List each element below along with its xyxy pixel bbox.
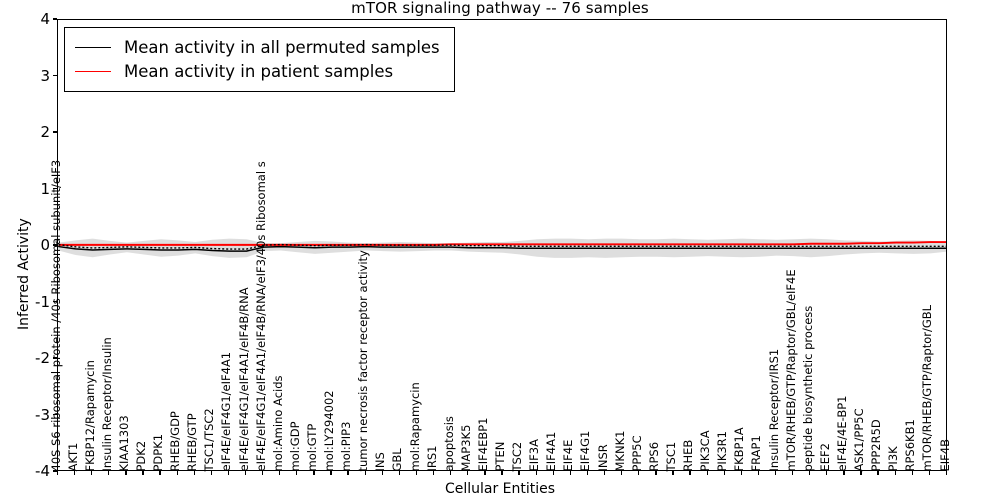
x-tick-mark: [707, 471, 708, 475]
x-tick-label: mol:Rapamycin: [410, 382, 422, 471]
x-tick-mark: [638, 471, 639, 475]
x-tick-label: PPP5C: [632, 435, 644, 471]
x-tick-label: PI3K: [888, 446, 900, 471]
x-tick-label: AKT1: [68, 442, 80, 471]
y-tick-label: -4: [0, 462, 50, 480]
x-tick-mark: [194, 471, 195, 475]
x-axis-label: Cellular Entities: [0, 481, 1000, 497]
x-tick-mark: [313, 471, 314, 475]
x-tick-label: ASK1/PP5C: [854, 408, 866, 471]
x-tick-mark: [365, 471, 366, 475]
x-tick-label: EIF3A: [529, 439, 541, 471]
x-tick-label: mol:GTP: [307, 423, 319, 471]
x-tick-mark: [501, 471, 502, 475]
x-tick-label: IRS1: [427, 445, 439, 471]
figure: mTOR signaling pathway -- 76 samples Inf…: [0, 0, 1000, 500]
x-tick-mark: [792, 471, 793, 475]
x-tick-label: RPS6: [649, 441, 661, 471]
x-tick-label: EIF4B: [940, 439, 952, 471]
legend-entry-patient: Mean activity in patient samples: [75, 59, 440, 83]
x-tick-label: eIF4E/eIF4G1/eIF4A1/eIF4B/RNA: [239, 287, 251, 471]
x-tick-mark: [929, 471, 930, 475]
y-tick-label: 4: [0, 10, 50, 28]
x-tick-mark: [159, 471, 160, 475]
legend-label-patient: Mean activity in patient samples: [124, 62, 393, 81]
x-tick-label: MAP3K5: [461, 424, 473, 471]
x-tick-label: TSC1/TSC2: [204, 408, 216, 471]
x-tick-mark: [655, 471, 656, 475]
x-tick-mark: [536, 471, 537, 475]
x-tick-mark: [296, 471, 297, 475]
x-tick-mark: [262, 471, 263, 475]
x-tick-mark: [279, 471, 280, 475]
x-tick-label: mTOR/RHEB/GTP/Raptor/GBL/eIF4E: [786, 269, 798, 471]
x-tick-mark: [946, 471, 947, 475]
x-tick-label: eIF4E/eIF4G1/eIF4A1: [221, 351, 233, 471]
x-tick-mark: [125, 471, 126, 475]
x-tick-mark: [399, 471, 400, 475]
x-tick-label: mTOR/RHEB/GTP/Raptor/GBL: [922, 304, 934, 471]
x-tick-label: Insulin Receptor/IRS1: [769, 348, 781, 471]
x-tick-label: PPP2R5D: [871, 419, 883, 471]
x-tick-label: EIF4G1: [580, 430, 592, 471]
x-tick-label: RPS6KB1: [905, 419, 917, 471]
x-tick-mark: [228, 471, 229, 475]
x-tick-mark: [91, 471, 92, 475]
x-tick-mark: [211, 471, 212, 475]
x-tick-mark: [570, 471, 571, 475]
legend-entry-permuted: Mean activity in all permuted samples: [75, 35, 440, 59]
x-tick-label: EEF2: [820, 443, 832, 471]
x-tick-mark: [689, 471, 690, 475]
x-tick-label: EIF4E: [563, 439, 575, 471]
x-tick-mark: [758, 471, 759, 475]
y-tick-label: -1: [0, 293, 50, 311]
x-tick-mark: [330, 471, 331, 475]
legend-swatch-permuted: [75, 47, 111, 48]
x-tick-mark: [912, 471, 913, 475]
x-tick-mark: [775, 471, 776, 475]
y-tick-label: -3: [0, 406, 50, 424]
x-tick-mark: [741, 471, 742, 475]
x-tick-label: GBL: [392, 448, 404, 471]
x-tick-mark: [518, 471, 519, 475]
x-tick-label: PDPK1: [153, 433, 165, 471]
x-tick-label: PIK3R1: [717, 431, 729, 472]
x-tick-label: INS: [375, 452, 387, 471]
x-tick-mark: [450, 471, 451, 475]
x-tick-label: 40S S6 ribosomal protein /40s Ribosomal …: [51, 159, 63, 471]
x-tick-label: EIF4A1: [546, 431, 558, 471]
x-tick-mark: [826, 471, 827, 475]
x-tick-label: mol:PIP3: [341, 421, 353, 471]
legend: Mean activity in all permuted samples Me…: [64, 27, 455, 92]
x-tick-label: PTEN: [495, 441, 507, 471]
x-tick-label: tumor necrosis factor receptor activity: [358, 250, 370, 471]
y-axis-label: Inferred Activity: [16, 218, 32, 330]
x-tick-mark: [843, 471, 844, 475]
x-tick-label: mol:Amino Acids: [273, 375, 285, 471]
x-tick-label: RHEB/GTP: [187, 413, 199, 471]
x-tick-mark: [347, 471, 348, 475]
x-tick-mark: [604, 471, 605, 475]
x-tick-mark: [57, 471, 58, 475]
x-tick-mark: [877, 471, 878, 475]
x-tick-mark: [809, 471, 810, 475]
x-tick-mark: [587, 471, 588, 475]
chart-title: mTOR signaling pathway -- 76 samples: [0, 0, 1000, 17]
x-tick-mark: [108, 471, 109, 475]
x-tick-mark: [724, 471, 725, 475]
x-tick-mark: [142, 471, 143, 475]
x-tick-label: FKBP12/Rapamycin: [85, 360, 97, 471]
y-tick-label: 1: [0, 180, 50, 198]
x-tick-label: FKBP1A: [734, 427, 746, 471]
y-tick-label: 2: [0, 123, 50, 141]
x-tick-label: PIK3CA: [700, 430, 712, 471]
x-tick-label: TSC2: [512, 441, 524, 471]
x-tick-mark: [860, 471, 861, 475]
x-tick-label: Insulin Receptor/Insulin: [102, 337, 114, 471]
legend-swatch-patient: [75, 71, 111, 72]
x-tick-label: EIF4EBP1: [478, 417, 490, 471]
x-tick-label: MKNK1: [615, 430, 627, 471]
x-tick-mark: [245, 471, 246, 475]
x-tick-mark: [433, 471, 434, 475]
x-tick-mark: [621, 471, 622, 475]
x-tick-label: FRAP1: [751, 435, 763, 471]
x-tick-label: INSR: [598, 444, 610, 471]
x-tick-mark: [895, 471, 896, 475]
x-tick-mark: [177, 471, 178, 475]
x-tick-label: KIAA1303: [119, 415, 131, 471]
x-tick-label: PDK2: [136, 440, 148, 471]
y-tick-label: 0: [0, 236, 50, 254]
x-tick-label: eIF4E/eIF4G1/eIF4A1/eIF4B/RNA/eIF3/40s R…: [256, 161, 268, 471]
x-tick-mark: [484, 471, 485, 475]
x-tick-mark: [553, 471, 554, 475]
x-tick-label: RHEB/GDP: [170, 411, 182, 471]
x-tick-mark: [672, 471, 673, 475]
x-tick-mark: [382, 471, 383, 475]
x-tick-label: apoptosis: [444, 416, 456, 471]
x-tick-label: mol:LY294002: [324, 390, 336, 471]
x-tick-mark: [416, 471, 417, 475]
x-tick-label: TSC1: [666, 441, 678, 471]
y-tick-label: -2: [0, 349, 50, 367]
x-tick-label: RHEB: [683, 439, 695, 471]
x-tick-label: eIF4E/4E-BP1: [837, 395, 849, 471]
x-tick-label: mol:GDP: [290, 421, 302, 471]
x-tick-mark: [467, 471, 468, 475]
y-tick-label: 3: [0, 67, 50, 85]
x-tick-mark: [74, 471, 75, 475]
legend-label-permuted: Mean activity in all permuted samples: [124, 38, 440, 57]
x-tick-label: peptide biosynthetic process: [803, 305, 815, 471]
